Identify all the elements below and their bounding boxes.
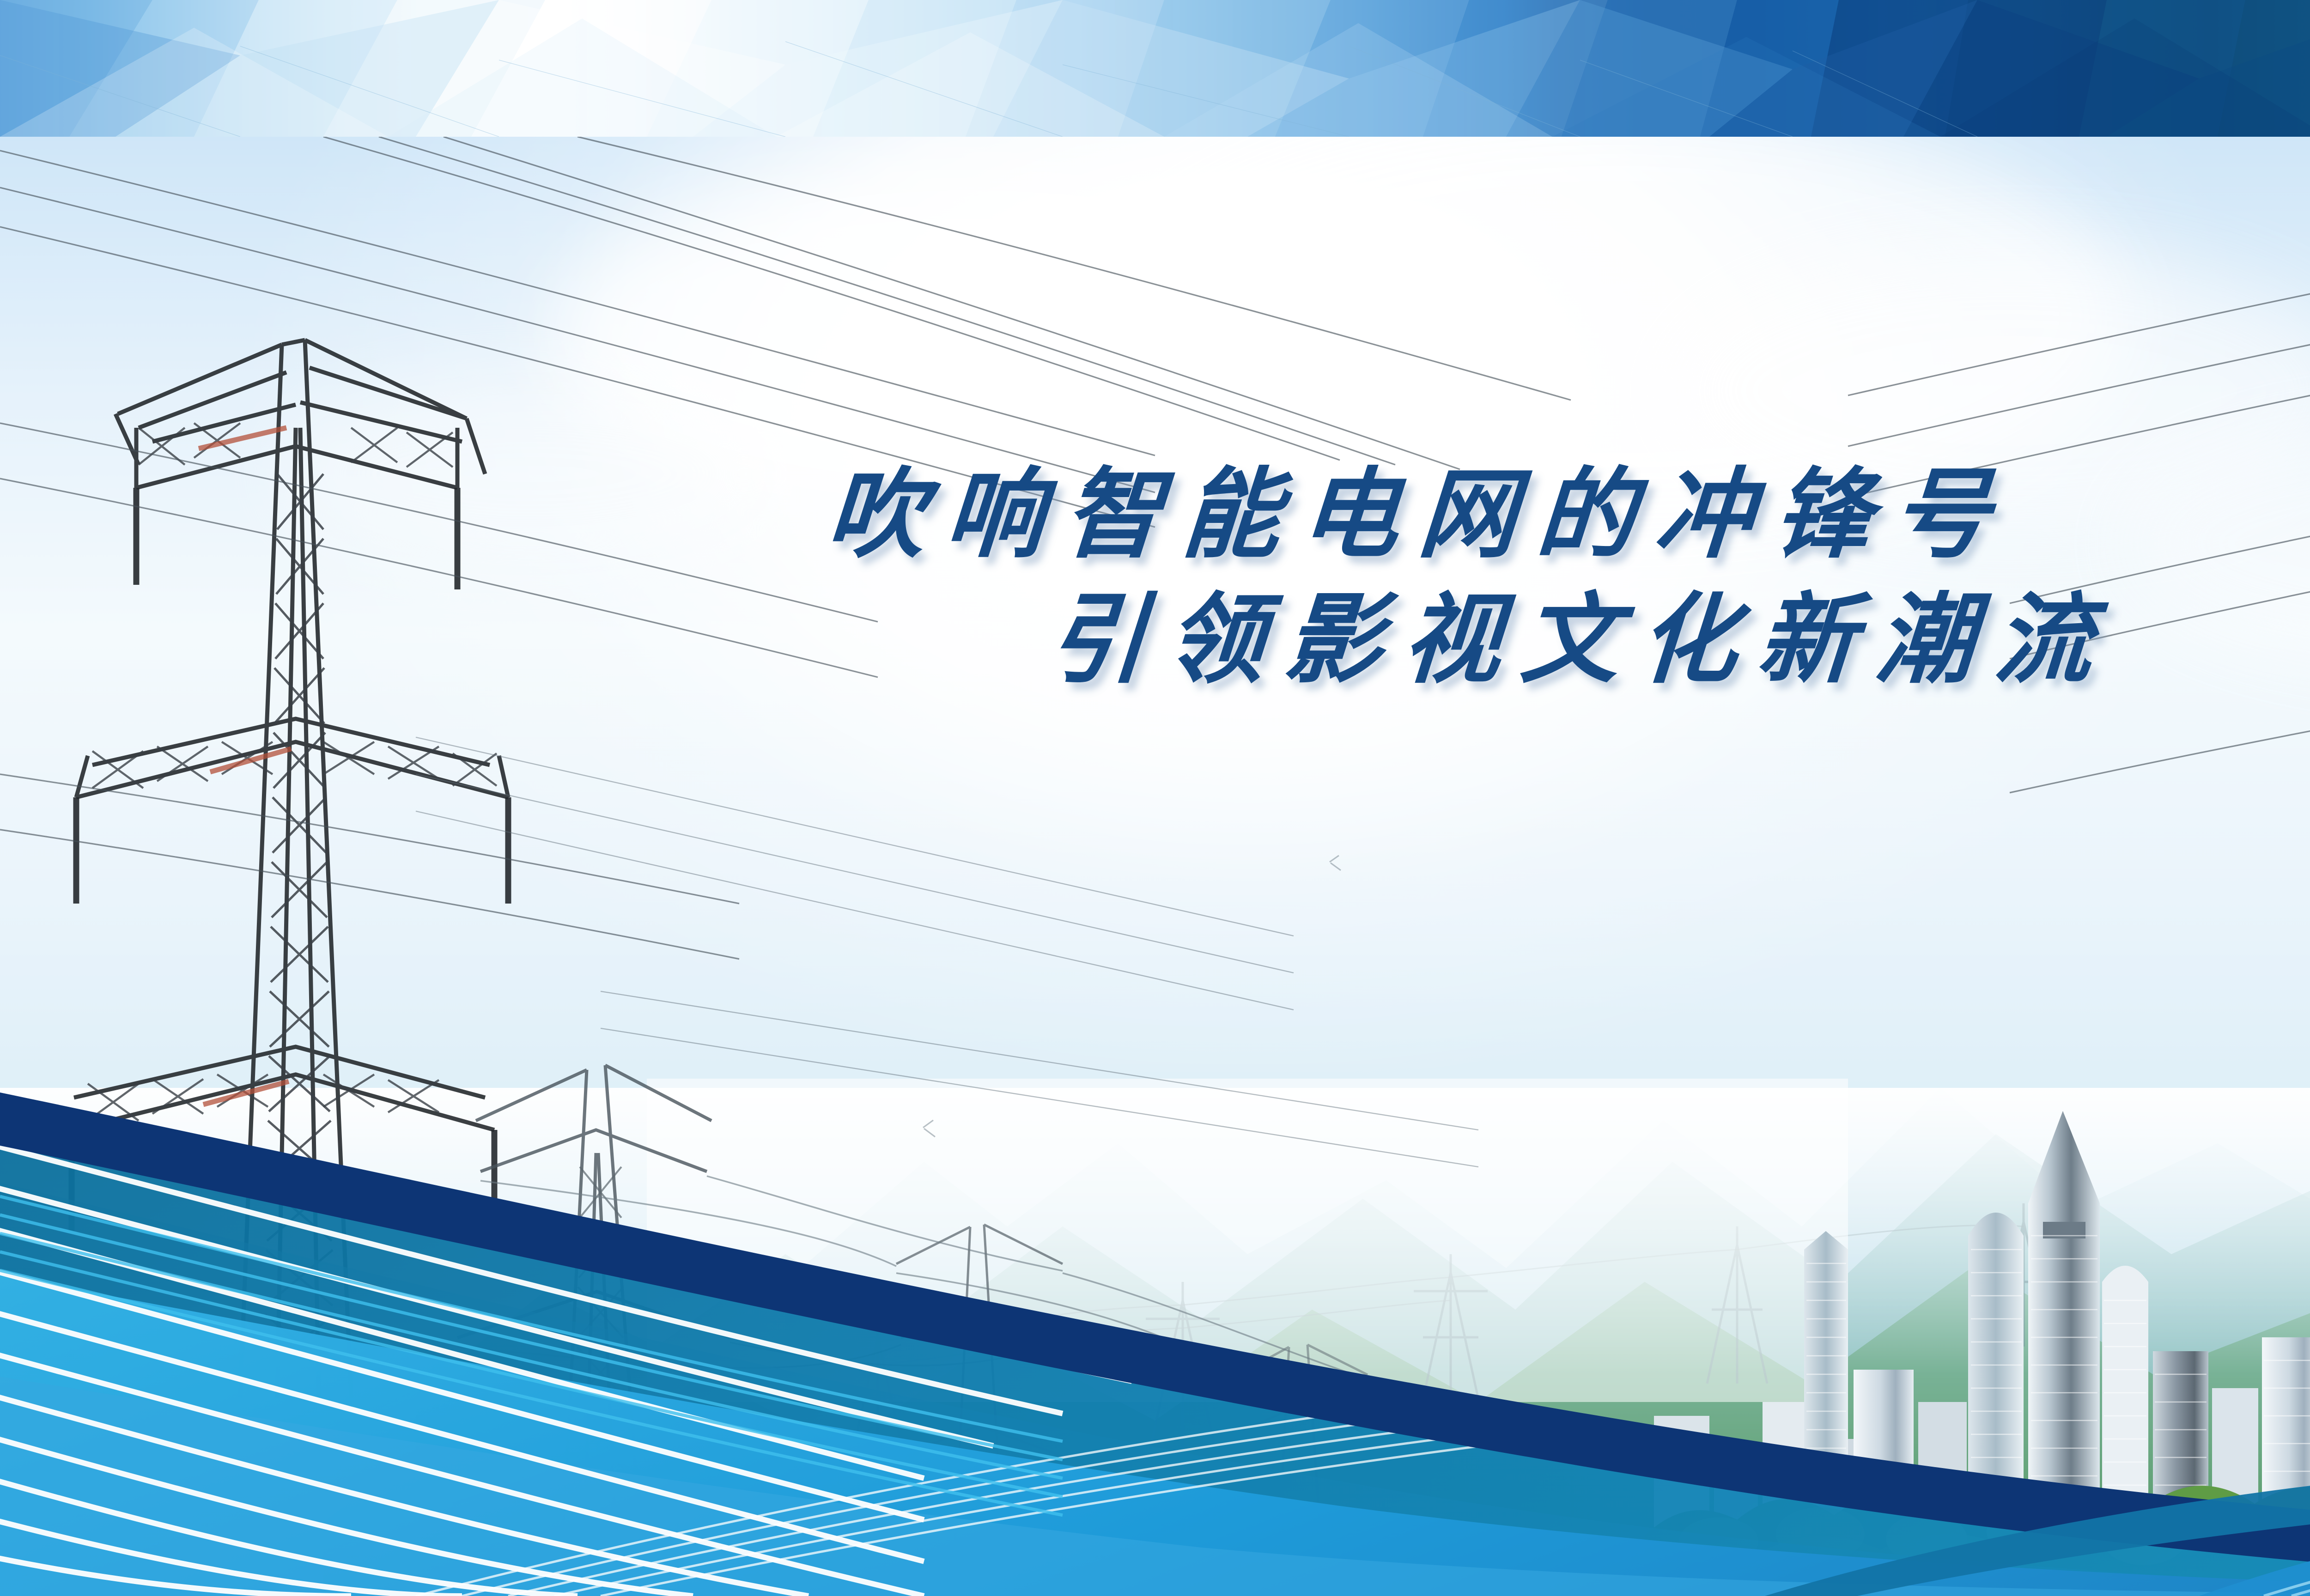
polygon-pattern-svg [0, 0, 2310, 137]
photo-composite [0, 137, 2310, 1596]
promo-banner: 吹响智能电网的冲锋号 引领影视文化新潮流 [0, 0, 2310, 1596]
top-polygon-band [0, 0, 2310, 137]
city-skyline [1645, 1051, 2310, 1596]
